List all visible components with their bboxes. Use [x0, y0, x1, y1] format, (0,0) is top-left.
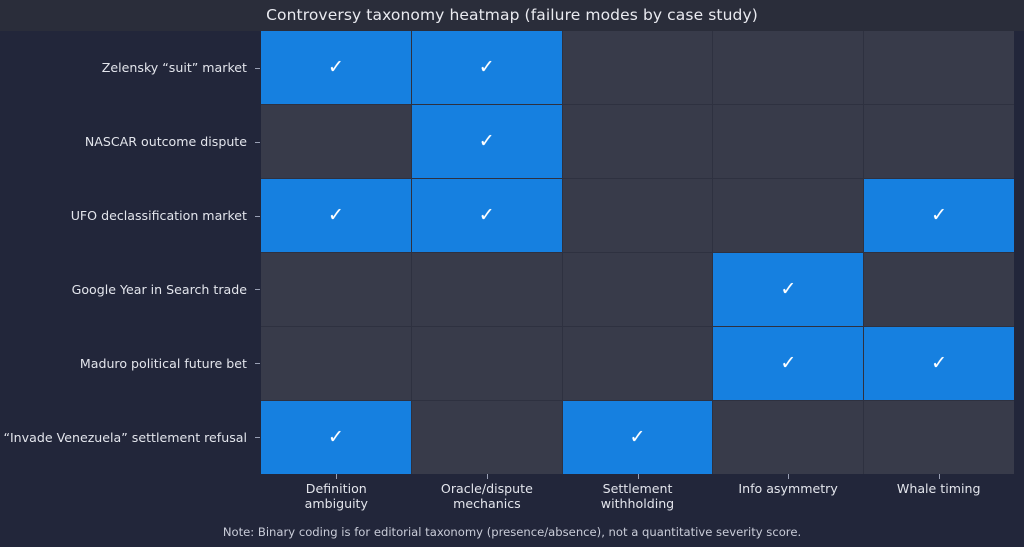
heatmap-cell: ✓: [261, 401, 411, 474]
y-axis-label: Google Year in Search trade: [0, 253, 253, 327]
y-axis-tick: [255, 437, 260, 438]
heatmap-cell: [563, 327, 713, 400]
heatmap-cell: [412, 327, 562, 400]
x-axis-tick: [939, 474, 940, 479]
heatmap-cell: [713, 401, 863, 474]
heatmap-cell: [261, 105, 411, 178]
heatmap-cell: ✓: [412, 105, 562, 178]
check-icon: ✓: [479, 206, 495, 225]
heatmap-grid: ✓✓✓✓✓✓✓✓✓✓✓: [261, 31, 1014, 474]
check-icon: ✓: [328, 58, 344, 77]
heatmap-cell: [412, 253, 562, 326]
heatmap-cell: [261, 253, 411, 326]
x-axis-label: Settlement withholding: [562, 479, 713, 523]
x-axis-tick: [487, 474, 488, 479]
x-axis-tick: [336, 474, 337, 479]
heatmap-cell: ✓: [713, 327, 863, 400]
y-axis-labels: Zelensky “suit” marketNASCAR outcome dis…: [0, 31, 253, 474]
heatmap-cell: [412, 401, 562, 474]
heatmap-cell: [563, 31, 713, 104]
heatmap-cell: [864, 253, 1014, 326]
y-axis-tick: [255, 289, 260, 290]
check-icon: ✓: [931, 354, 947, 373]
y-axis-tick: [255, 142, 260, 143]
heatmap-figure: Controversy taxonomy heatmap (failure mo…: [0, 0, 1024, 547]
heatmap-cell: [563, 179, 713, 252]
y-axis-tick: [255, 363, 260, 364]
heatmap-cell: ✓: [261, 31, 411, 104]
y-axis-tick: [255, 68, 260, 69]
check-icon: ✓: [328, 428, 344, 447]
y-axis-label: Zelensky “suit” market: [0, 31, 253, 105]
chart-footnote: Note: Binary coding is for editorial tax…: [0, 525, 1024, 539]
y-axis-tick: [255, 216, 260, 217]
check-icon: ✓: [479, 132, 495, 151]
heatmap-cell: [261, 327, 411, 400]
heatmap-cell: ✓: [412, 31, 562, 104]
check-icon: ✓: [931, 206, 947, 225]
x-axis-tick: [638, 474, 639, 479]
y-axis-label: Maduro political future bet: [0, 326, 253, 400]
check-icon: ✓: [780, 280, 796, 299]
heatmap-cell: [864, 105, 1014, 178]
heatmap-cell: [713, 105, 863, 178]
heatmap-cell: ✓: [864, 179, 1014, 252]
heatmap-cell: [864, 31, 1014, 104]
check-icon: ✓: [780, 354, 796, 373]
heatmap-cell: ✓: [864, 327, 1014, 400]
x-axis-labels: Definition ambiguityOracle/dispute mecha…: [261, 479, 1014, 523]
check-icon: ✓: [479, 58, 495, 77]
heatmap-cell: ✓: [563, 401, 713, 474]
x-axis-label: Definition ambiguity: [261, 479, 412, 523]
heatmap-cell: [563, 105, 713, 178]
heatmap-cell: [563, 253, 713, 326]
x-axis-label: Whale timing: [863, 479, 1014, 523]
heatmap-cell: ✓: [412, 179, 562, 252]
heatmap-cell: ✓: [713, 253, 863, 326]
y-axis-label: NASCAR outcome dispute: [0, 105, 253, 179]
heatmap-cell: [713, 31, 863, 104]
x-axis-label: Oracle/dispute mechanics: [412, 479, 563, 523]
heatmap-cell: [864, 401, 1014, 474]
heatmap-cell: [713, 179, 863, 252]
x-axis-label: Info asymmetry: [713, 479, 864, 523]
check-icon: ✓: [630, 428, 646, 447]
y-axis-label: UFO declassification market: [0, 179, 253, 253]
y-axis-label: “Invade Venezuela” settlement refusal: [0, 400, 253, 474]
check-icon: ✓: [328, 206, 344, 225]
x-axis-tick: [788, 474, 789, 479]
heatmap-cell: ✓: [261, 179, 411, 252]
chart-title: Controversy taxonomy heatmap (failure mo…: [0, 0, 1024, 31]
